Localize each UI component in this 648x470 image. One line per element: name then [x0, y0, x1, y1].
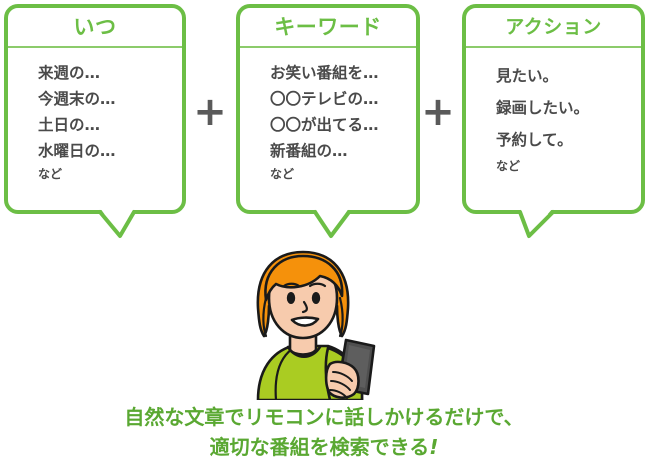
- card-etc-label: など: [270, 164, 416, 184]
- card-item: 水曜日の…: [38, 138, 182, 164]
- card-item: 〇〇が出てる…: [270, 112, 416, 138]
- category-card-keyword: キーワード お笑い番組を… 〇〇テレビの… 〇〇が出てる… 新番組の… など: [236, 4, 420, 214]
- card-etc-label: など: [496, 156, 641, 176]
- card-body-action: 見たい。 録画したい。 予約して。 など: [466, 48, 641, 176]
- caption-text: 自然な文章でリモコンに話しかけるだけで、 適切な番組を検索できる!: [0, 402, 648, 462]
- card-etc-label: など: [38, 164, 182, 184]
- category-card-when: いつ 来週の… 今週末の… 土日の… 水曜日の… など: [4, 4, 186, 214]
- card-item: 今週末の…: [38, 86, 182, 112]
- card-item: 新番組の…: [270, 138, 416, 164]
- card-body-keyword: お笑い番組を… 〇〇テレビの… 〇〇が出てる… 新番組の… など: [240, 48, 416, 184]
- card-item: 土日の…: [38, 112, 182, 138]
- card-item: 見たい。: [496, 60, 641, 92]
- category-card-action: アクション 見たい。 録画したい。 予約して。 など: [462, 4, 645, 214]
- eye-left: [287, 292, 295, 304]
- hand-shape: [326, 362, 358, 398]
- eye-right: [312, 292, 320, 304]
- category-cards-row: いつ 来週の… 今週末の… 土日の… 水曜日の… など キーワード お笑い番組を…: [0, 0, 648, 240]
- card-item: 〇〇テレビの…: [270, 86, 416, 112]
- caption-line-2: 適切な番組を検索できる!: [0, 432, 648, 462]
- card-body-when: 来週の… 今週末の… 土日の… 水曜日の… など: [8, 48, 182, 184]
- caption-line-2-text: 適切な番組を検索できる: [210, 435, 430, 459]
- plus-operator-icon: +: [188, 92, 232, 132]
- card-item: 録画したい。: [496, 92, 641, 124]
- card-title-when: いつ: [8, 8, 182, 48]
- card-title-keyword: キーワード: [240, 8, 416, 48]
- woman-holding-remote-illustration: [196, 248, 406, 400]
- plus-operator-icon: +: [416, 92, 460, 132]
- card-item: お笑い番組を…: [270, 60, 416, 86]
- mouth-shape: [292, 318, 318, 326]
- caption-line-1: 自然な文章でリモコンに話しかけるだけで、: [0, 402, 648, 432]
- card-item: 予約して。: [496, 124, 641, 156]
- card-item: 来週の…: [38, 60, 182, 86]
- infographic-root: いつ 来週の… 今週末の… 土日の… 水曜日の… など キーワード お笑い番組を…: [0, 0, 648, 470]
- caption-exclamation: !: [429, 435, 438, 459]
- card-title-action: アクション: [466, 8, 641, 48]
